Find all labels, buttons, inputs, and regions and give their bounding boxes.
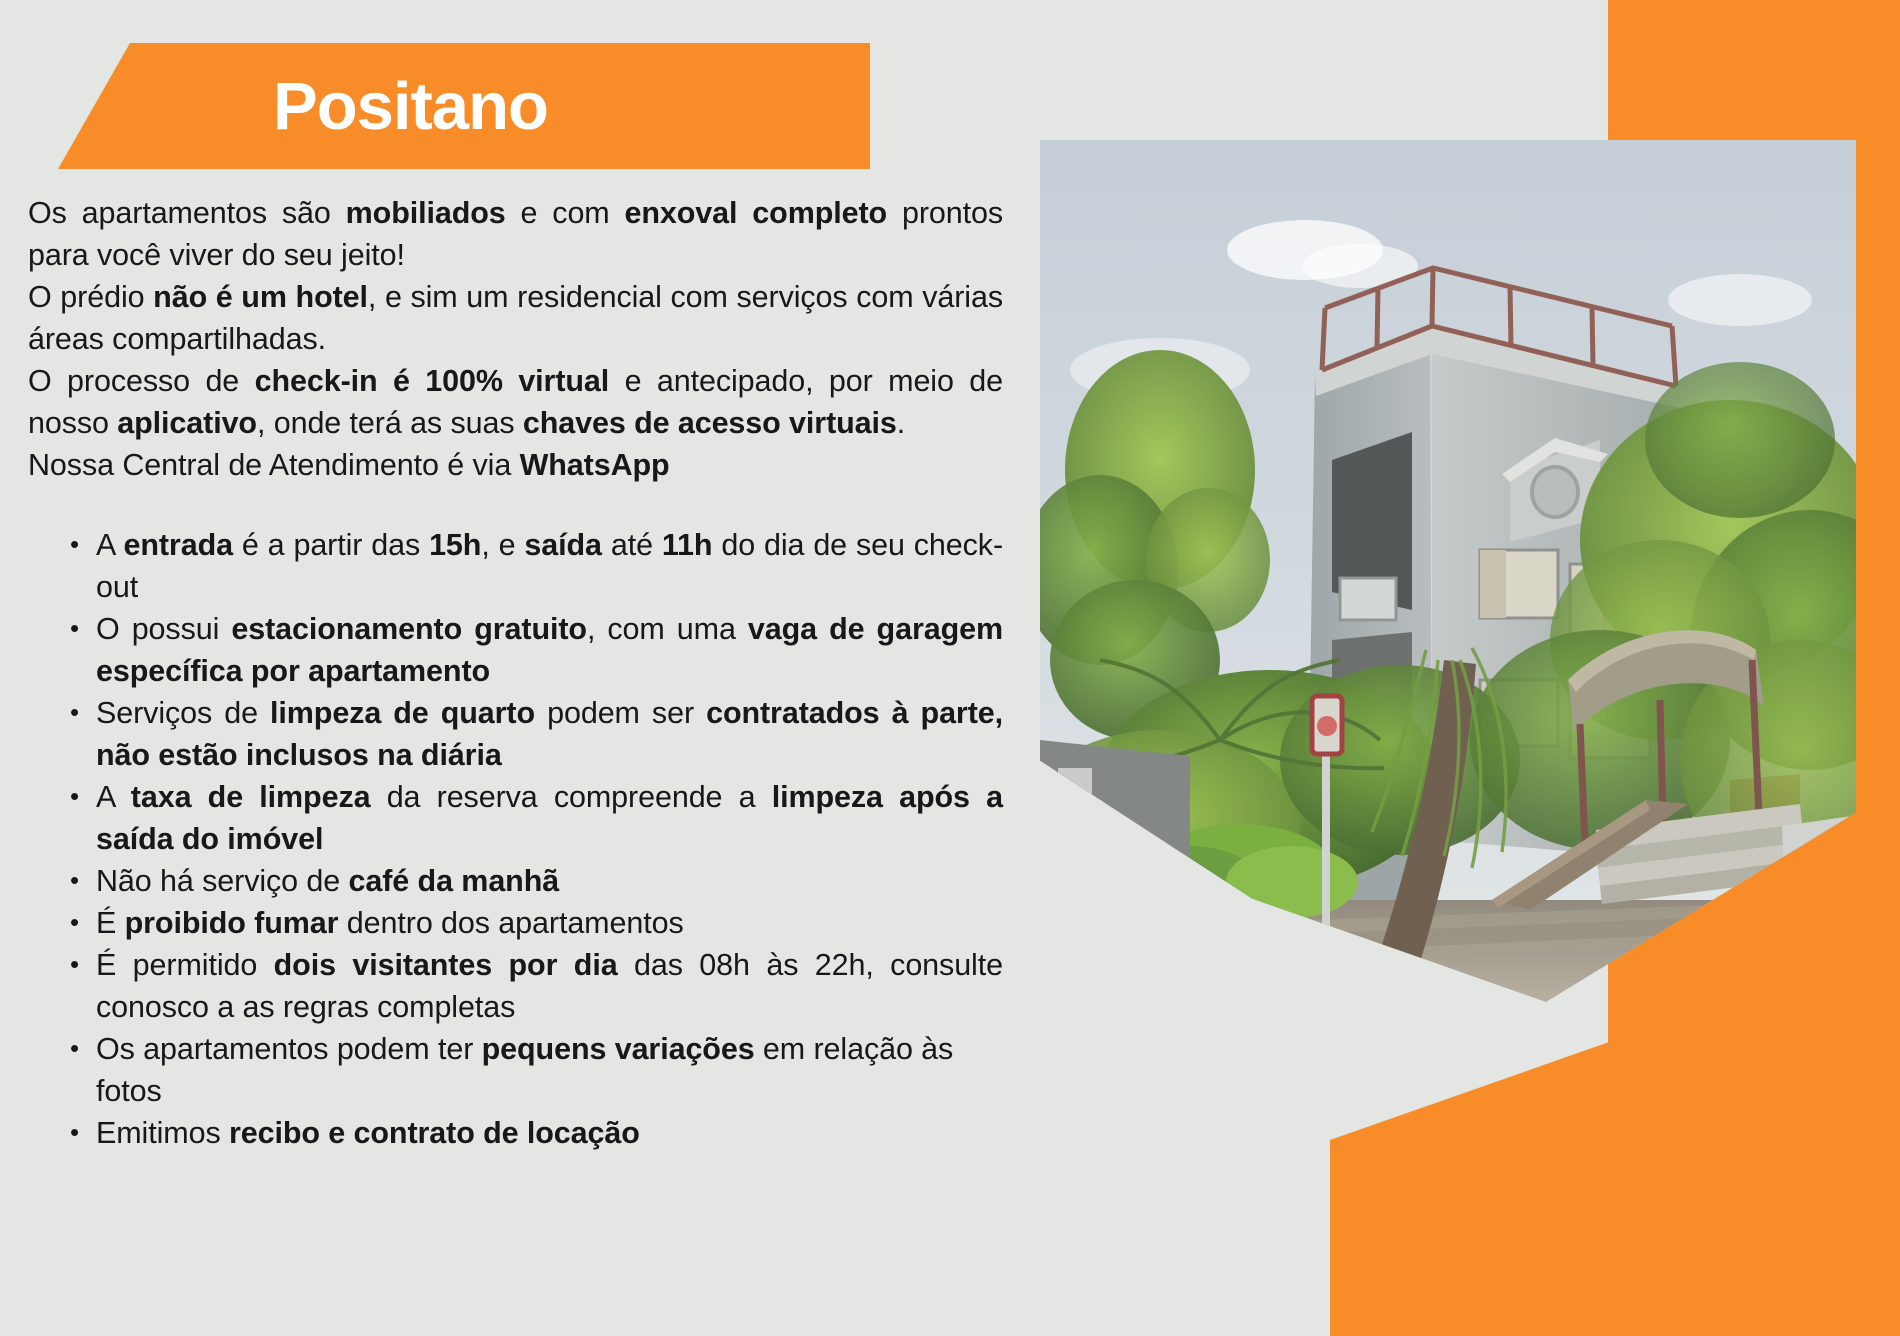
section-spacer [28, 486, 1003, 524]
list-item: O possui estacionamento gratuito, com um… [70, 608, 1003, 692]
accent-wedge-bottom-right [1290, 940, 1900, 1336]
list-item: Serviços de limpeza de quarto podem ser … [70, 692, 1003, 776]
list-item: Os apartamentos podem ter pequens variaç… [70, 1028, 1003, 1112]
list-item: É permitido dois visitantes por dia das … [70, 944, 1003, 1028]
list-item: Não há serviço de café da manhã [70, 860, 1003, 902]
title-banner: Positano [58, 43, 870, 169]
rules-list: A entrada é a partir das 15h, e saída at… [28, 524, 1003, 1154]
content-column: Os apartamentos são mobiliados e com enx… [28, 192, 1003, 1154]
intro-paragraph-2: O prédio não é um hotel, e sim um reside… [28, 276, 1003, 360]
list-item: É proibido fumar dentro dos apartamentos [70, 902, 1003, 944]
page-title: Positano [273, 73, 548, 140]
intro-paragraph-4: Nossa Central de Atendimento é via Whats… [28, 444, 1003, 486]
intro-paragraph-3: O processo de check-in é 100% virtual e … [28, 360, 1003, 444]
building-photo-illustration [1040, 140, 1856, 1002]
intro-paragraph-1: Os apartamentos são mobiliados e com enx… [28, 192, 1003, 276]
list-item: A taxa de limpeza da reserva compreende … [70, 776, 1003, 860]
intro-paragraphs: Os apartamentos são mobiliados e com enx… [28, 192, 1003, 486]
list-item: Emitimos recibo e contrato de locação [70, 1112, 1003, 1154]
list-item: A entrada é a partir das 15h, e saída at… [70, 524, 1003, 608]
building-photo [1040, 140, 1856, 1002]
